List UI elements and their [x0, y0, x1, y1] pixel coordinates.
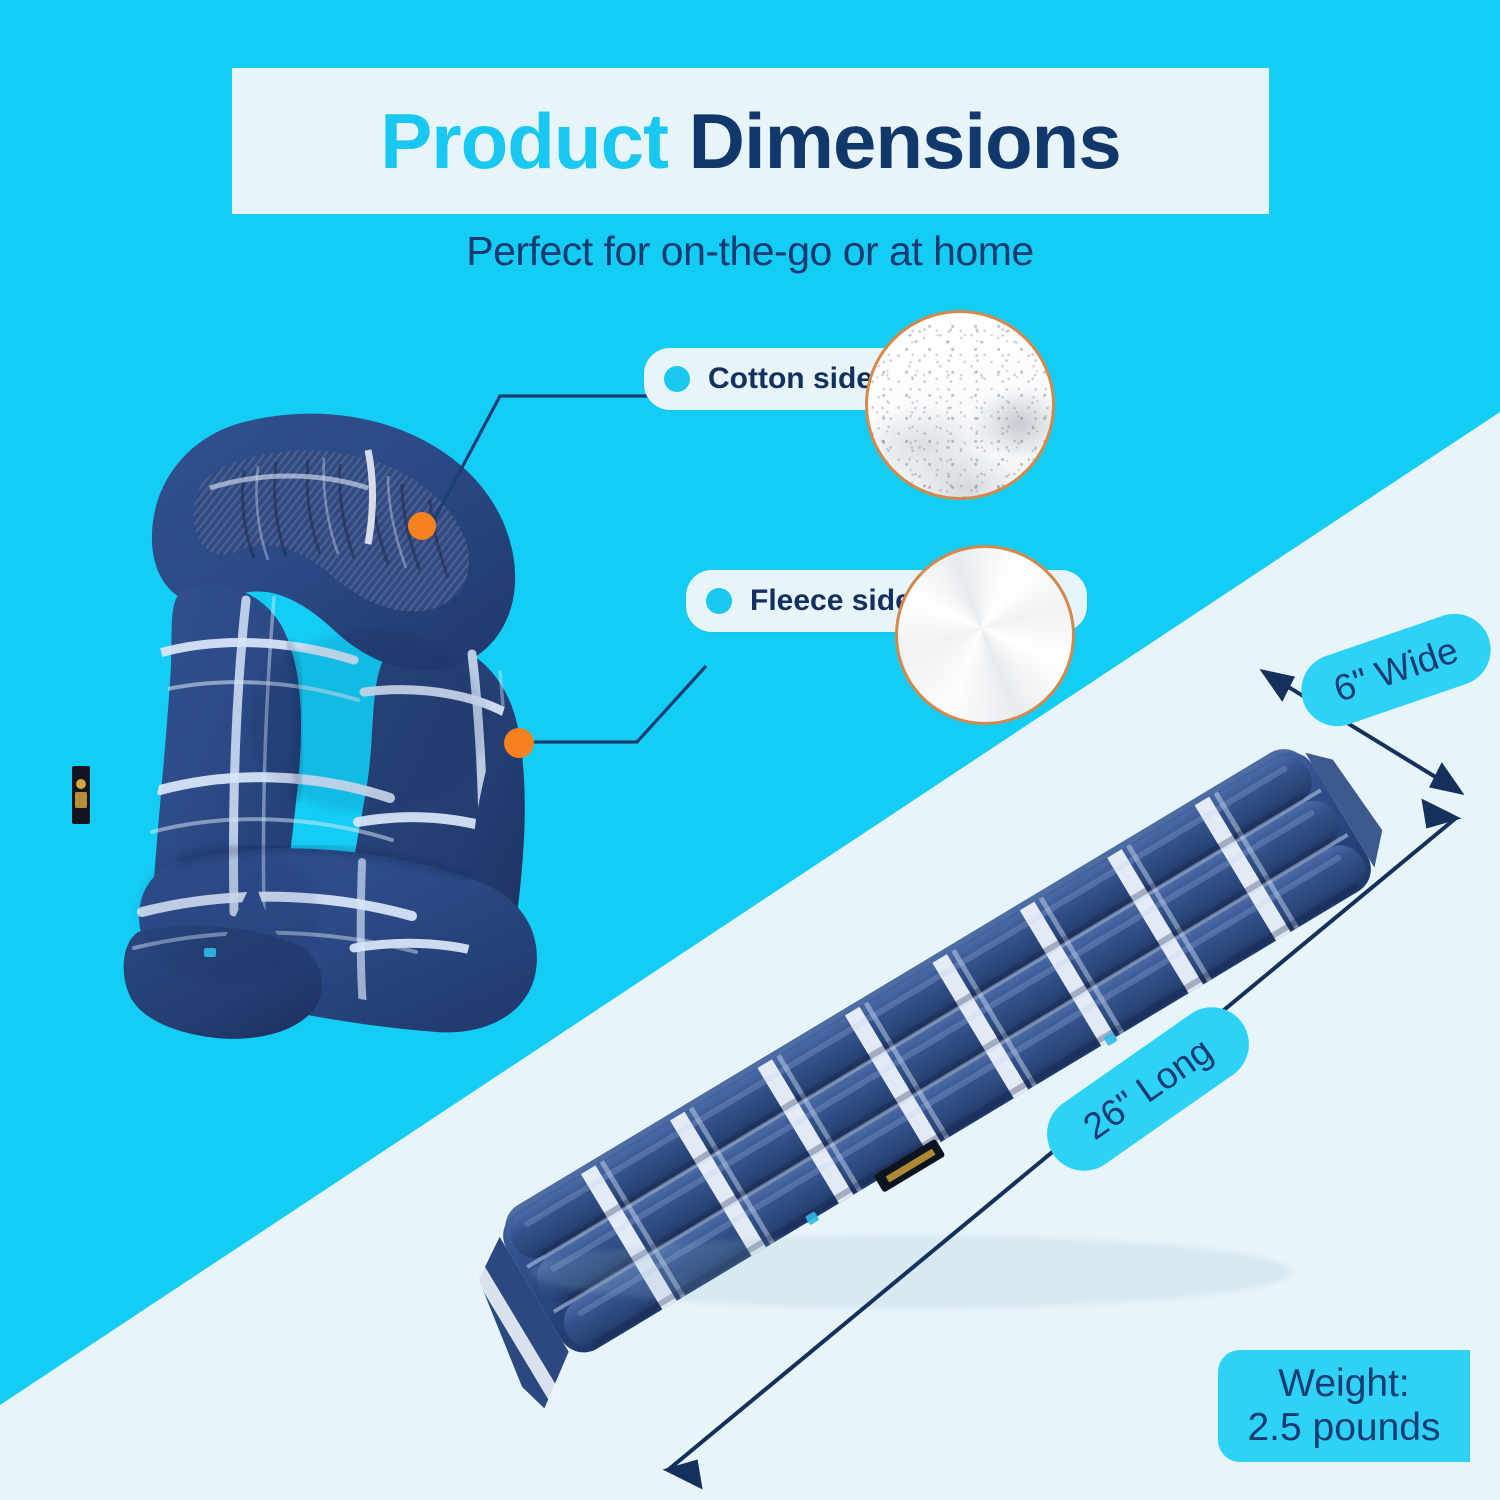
cotton-texture-icon	[865, 310, 1055, 500]
page-title-part1: Product	[380, 97, 668, 185]
infographic-canvas: Product Dimensions Perfect for on-the-go…	[0, 0, 1500, 1500]
page-title-part2: Dimensions	[689, 97, 1121, 185]
bullet-dot-icon	[664, 366, 690, 392]
page-title: Product Dimensions	[380, 102, 1120, 180]
brand-tag	[72, 766, 90, 824]
callout-fleece-title: Fleece side	[750, 584, 912, 617]
weight-label: Weight:	[1278, 1362, 1410, 1406]
marker-fleece-point	[504, 728, 534, 758]
callout-cotton-title: Cotton side	[708, 362, 873, 395]
page-subtitle: Perfect for on-the-go or at home	[0, 228, 1500, 275]
bullet-dot-icon	[706, 588, 732, 614]
marker-cotton-point	[408, 512, 436, 540]
weight-value: 2.5 pounds	[1247, 1406, 1440, 1450]
weight-badge: Weight: 2.5 pounds	[1218, 1350, 1470, 1462]
header-banner: Product Dimensions	[232, 68, 1269, 214]
fleece-texture-icon	[895, 545, 1075, 725]
